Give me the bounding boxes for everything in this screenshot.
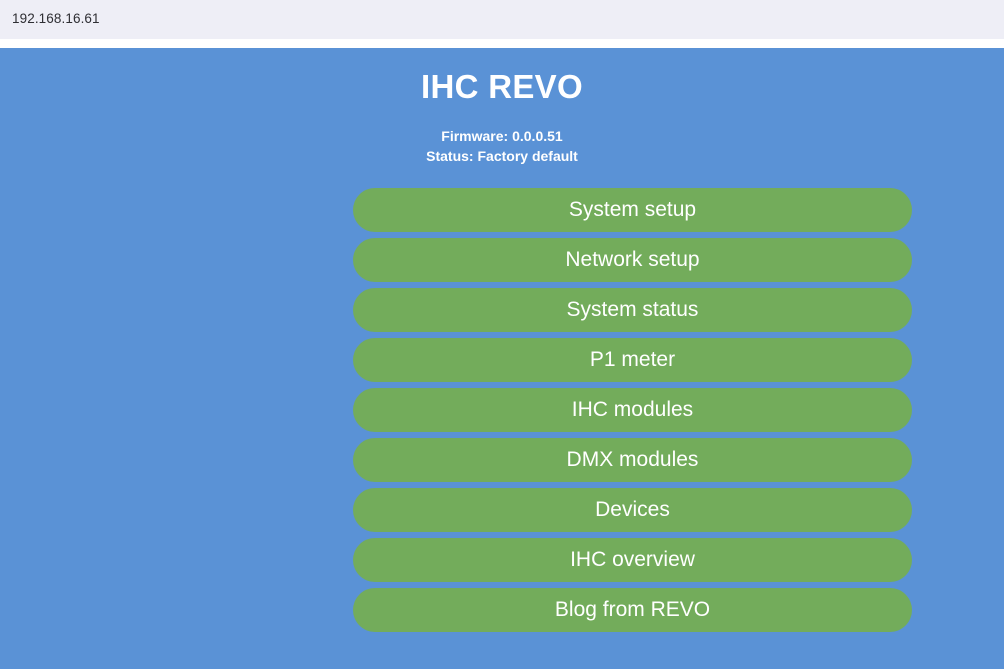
menu-button-system-setup[interactable]: System setup	[353, 188, 912, 232]
menu-button-network-setup[interactable]: Network setup	[353, 238, 912, 282]
device-status-block: Firmware: 0.0.0.51 Status: Factory defau…	[0, 126, 1004, 166]
browser-address-bar[interactable]: 192.168.16.61	[0, 0, 1004, 39]
menu-button-ihc-modules[interactable]: IHC modules	[353, 388, 912, 432]
menu-button-devices[interactable]: Devices	[353, 488, 912, 532]
url-text[interactable]: 192.168.16.61	[12, 11, 100, 26]
firmware-version-text: Firmware: 0.0.0.51	[0, 126, 1004, 146]
menu-button-blog-from-revo[interactable]: Blog from REVO	[353, 588, 912, 632]
page-title: IHC REVO	[0, 68, 1004, 106]
menu-button-p1-meter[interactable]: P1 meter	[353, 338, 912, 382]
menu-button-system-status[interactable]: System status	[353, 288, 912, 332]
main-menu: System setup Network setup System status…	[353, 188, 912, 632]
menu-button-dmx-modules[interactable]: DMX modules	[353, 438, 912, 482]
page-viewport: IHC REVO Firmware: 0.0.0.51 Status: Fact…	[0, 48, 1004, 669]
menu-button-ihc-overview[interactable]: IHC overview	[353, 538, 912, 582]
browser-chrome-divider	[0, 39, 1004, 48]
device-status-text: Status: Factory default	[0, 146, 1004, 166]
